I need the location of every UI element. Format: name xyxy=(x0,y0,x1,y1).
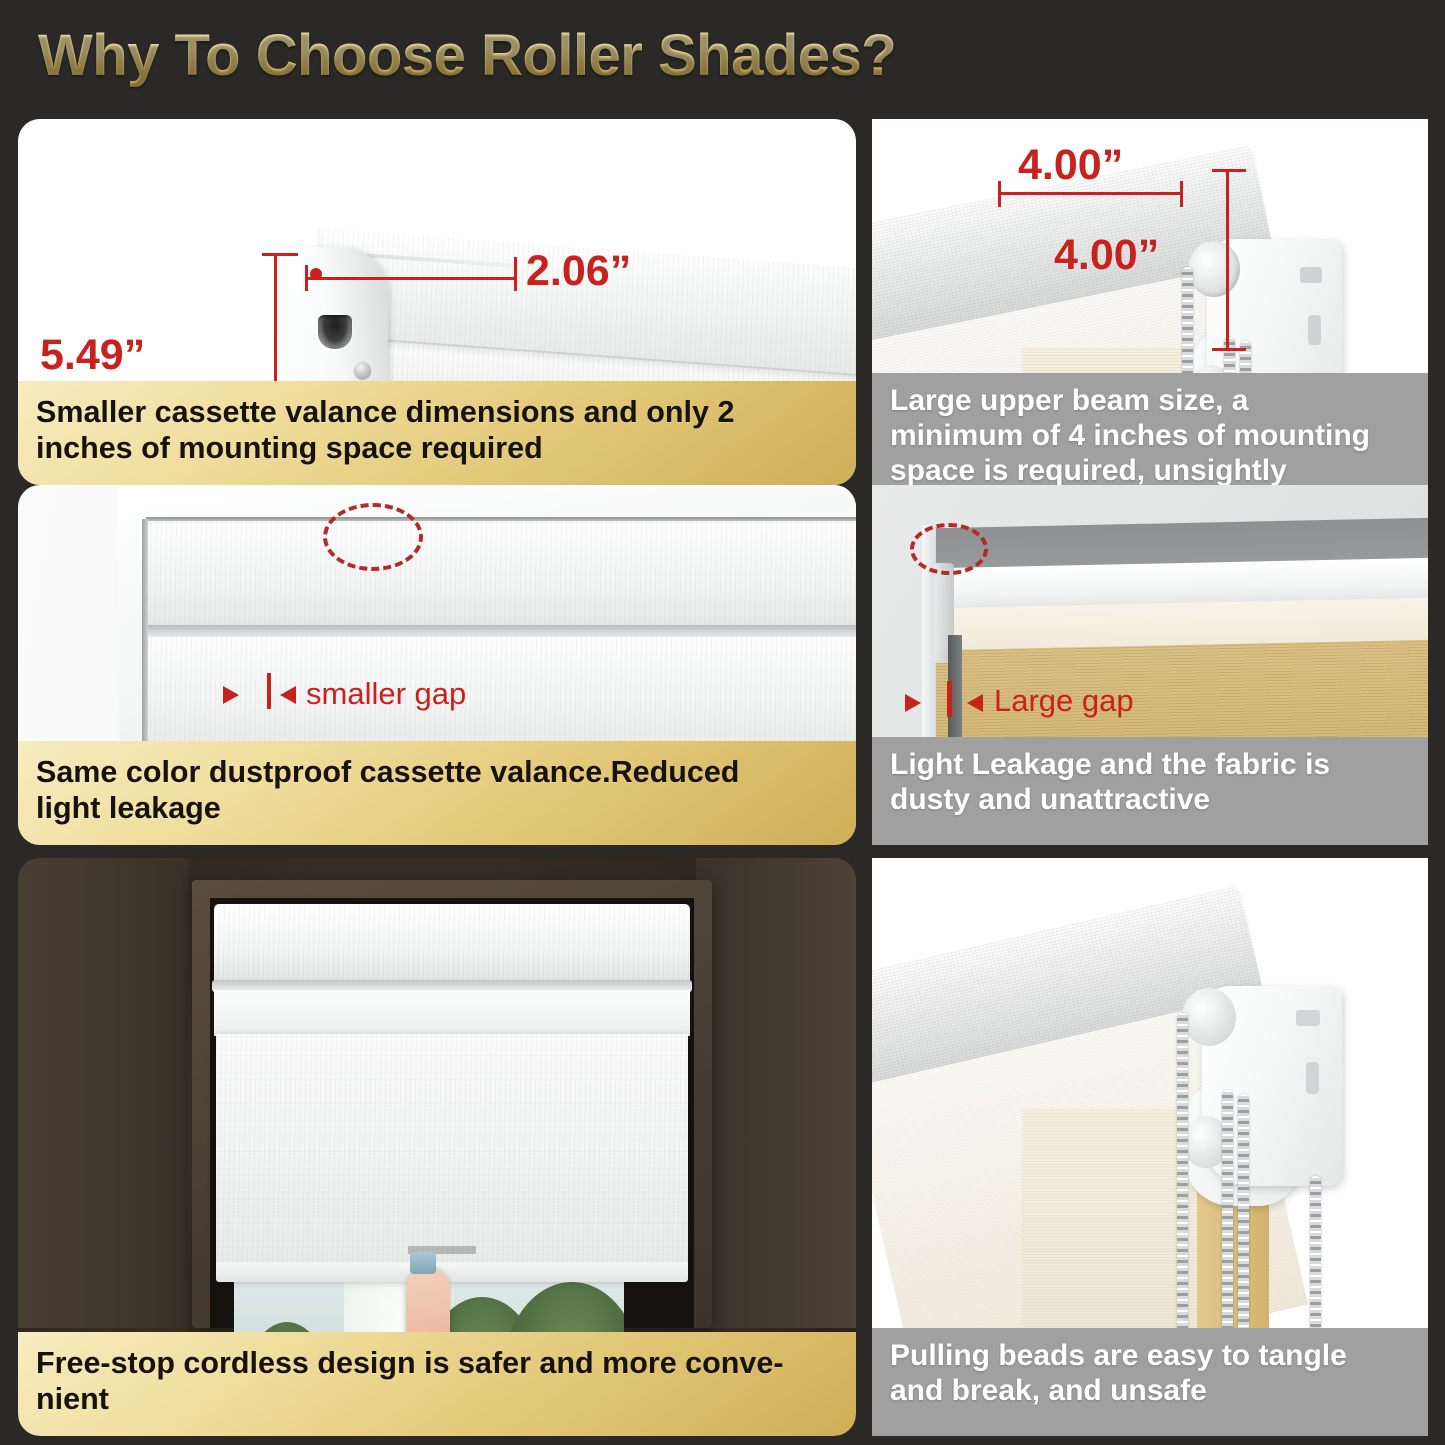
caption-line: nient xyxy=(36,1382,840,1418)
panel-5-pro-cordless-design: Free-stop cordless design is safer and m… xyxy=(18,858,856,1436)
gap-arrow-right-icon xyxy=(905,694,921,712)
panel-3-pro-dustproof-valance: smaller gap Same color dustproof cassett… xyxy=(18,485,856,845)
dimension-label-width: 4.00” xyxy=(1018,141,1123,190)
panel-2-caption: Large upper beam size, a minimum of 4 in… xyxy=(872,373,1428,485)
page-header: Why To Choose Roller Shades? xyxy=(0,0,1445,110)
screw-icon xyxy=(354,362,371,379)
dimension-label-width: 2.06” xyxy=(526,247,631,296)
shade-pull-bar xyxy=(410,1252,436,1274)
gap-label: smaller gap xyxy=(306,676,466,712)
panel-6-con-pull-beads: Pulling beads are easy to tangle and bre… xyxy=(872,858,1428,1436)
free-stop-slot xyxy=(318,315,352,349)
panel-1-caption: Smaller cassette valance dimensions and … xyxy=(18,381,856,485)
caption-line: Light Leakage and the fabric is xyxy=(890,747,1412,782)
panel-3-caption: Same color dustproof cassette valance.Re… xyxy=(18,741,856,845)
caption-line: and break, and unsafe xyxy=(890,1373,1412,1408)
gap-arrow-left-icon xyxy=(967,694,983,712)
caption-line: light leakage xyxy=(36,791,840,827)
caption-line: Large upper beam size, a xyxy=(890,383,1412,418)
dimension-label-height: 5.49” xyxy=(40,331,145,380)
gap-label: Large gap xyxy=(994,683,1134,719)
panel-1-pro-cassette-dimensions: 2.06” 5.49” Smaller cassette valance dim… xyxy=(18,119,856,485)
page-title: Why To Choose Roller Shades? xyxy=(38,22,896,89)
gap-highlight-ellipse xyxy=(910,523,988,575)
comparison-grid: 2.06” 5.49” Smaller cassette valance dim… xyxy=(0,110,1445,1445)
dimension-label-height: 4.00” xyxy=(1054,231,1159,280)
panel-5-caption: Free-stop cordless design is safer and m… xyxy=(18,1332,856,1436)
caption-line: inches of mounting space required xyxy=(36,431,840,467)
caption-line: Same color dustproof cassette valance.Re… xyxy=(36,755,840,791)
gap-arrow-left-icon xyxy=(280,686,296,704)
gap-arrow-right-icon xyxy=(223,686,239,704)
panel-4-con-light-leakage: Large gap Light Leakage and the fabric i… xyxy=(872,485,1428,845)
panel-6-caption: Pulling beads are easy to tangle and bre… xyxy=(872,1328,1428,1436)
caption-line: Free-stop cordless design is safer and m… xyxy=(36,1346,840,1382)
caption-line: dusty and unattractive xyxy=(890,782,1412,817)
caption-line: Pulling beads are easy to tangle xyxy=(890,1338,1412,1373)
caption-line: Smaller cassette valance dimensions and … xyxy=(36,395,840,431)
caption-line: space is required, unsightly xyxy=(890,453,1412,485)
panel-2-con-large-beam: 4.00” 4.00” Large upper beam size, a min… xyxy=(872,119,1428,485)
caption-line: minimum of 4 inches of mounting xyxy=(890,418,1412,453)
panel-4-caption: Light Leakage and the fabric is dusty an… xyxy=(872,737,1428,845)
gap-highlight-ellipse xyxy=(323,503,423,571)
